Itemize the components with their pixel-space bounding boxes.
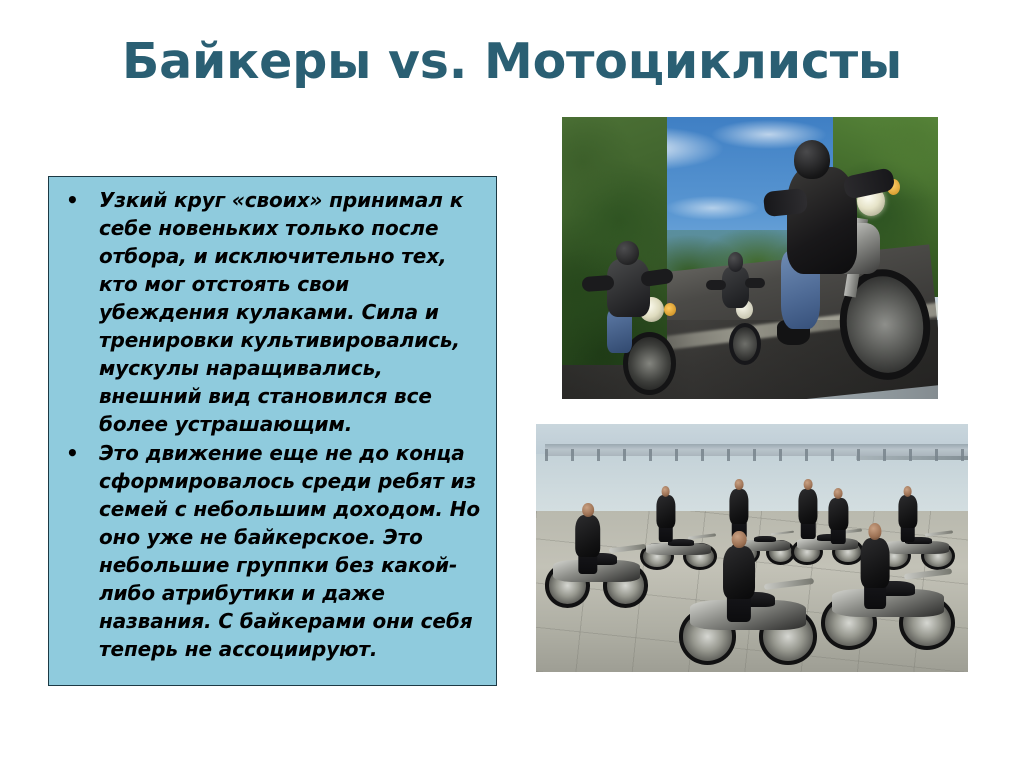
turn-signal-right-shape <box>664 303 676 316</box>
presentation-slide: Байкеры vs. Мотоциклисты • Узкий круг «с… <box>0 0 1024 767</box>
photo-bikers-on-road <box>562 117 938 399</box>
bullet-point-icon: • <box>66 439 80 467</box>
person-head-shape <box>735 479 744 491</box>
handlebar-shape <box>925 531 953 537</box>
content-text-box: • Узкий круг «своих» принимал к себе нов… <box>48 176 497 686</box>
list-item-label: Узкий круг «своих» принимал к себе новен… <box>99 188 463 436</box>
rider-left <box>585 241 698 388</box>
person-head-shape <box>804 479 813 491</box>
person-torso-shape <box>656 495 675 528</box>
helmet-shape <box>794 140 830 179</box>
rider-arm-left-shape <box>582 275 615 292</box>
person-head-shape <box>582 503 594 517</box>
person-torso-shape <box>575 515 601 557</box>
list-item-label: Это движение еще не до конца сформировал… <box>99 441 480 661</box>
photo-bikers-on-road-content <box>562 117 938 399</box>
rider-torso-shape <box>607 259 650 318</box>
page-title: Байкеры vs. Мотоциклисты <box>0 33 1024 91</box>
person-torso-shape <box>861 538 890 589</box>
person <box>571 503 606 572</box>
person <box>825 488 851 543</box>
person-head-shape <box>903 486 912 497</box>
person-torso-shape <box>729 489 748 525</box>
person-head-shape <box>661 486 670 497</box>
handlebar-shape <box>764 578 814 590</box>
person-head-shape <box>834 488 843 499</box>
rider-torso-shape <box>722 267 749 308</box>
person-head-shape <box>732 531 747 549</box>
photo-motorcyclists-group-content <box>536 424 968 672</box>
person <box>795 479 821 539</box>
person-head-shape <box>869 523 882 540</box>
person-torso-shape <box>829 498 848 531</box>
person <box>653 486 679 541</box>
bridge-piers-shape <box>545 449 968 461</box>
rider-foreground-right <box>758 140 923 371</box>
rider-arm-right-shape <box>842 167 895 200</box>
rider-arm-right-shape <box>640 268 673 287</box>
photo-motorcyclists-group <box>536 424 968 672</box>
person <box>726 479 752 539</box>
handlebar-shape <box>609 543 647 552</box>
bullet-list: • Узкий круг «своих» принимал к себе нов… <box>49 177 496 663</box>
person <box>895 486 921 541</box>
helmet-shape <box>728 252 744 271</box>
rider-arm-left-shape <box>706 280 726 290</box>
handlebar-shape <box>688 533 716 539</box>
helmet-shape <box>616 241 639 264</box>
motorcycle <box>640 533 718 570</box>
person-torso-shape <box>898 495 917 528</box>
person <box>856 523 895 607</box>
person-torso-shape <box>799 489 818 525</box>
person-torso-shape <box>723 546 755 600</box>
bullet-point-icon: • <box>66 186 80 214</box>
list-item: • Это движение еще не до конца сформиров… <box>49 439 496 663</box>
list-item: • Узкий круг «своих» принимал к себе нов… <box>49 186 496 438</box>
person <box>717 531 760 620</box>
handlebar-shape <box>904 568 953 580</box>
